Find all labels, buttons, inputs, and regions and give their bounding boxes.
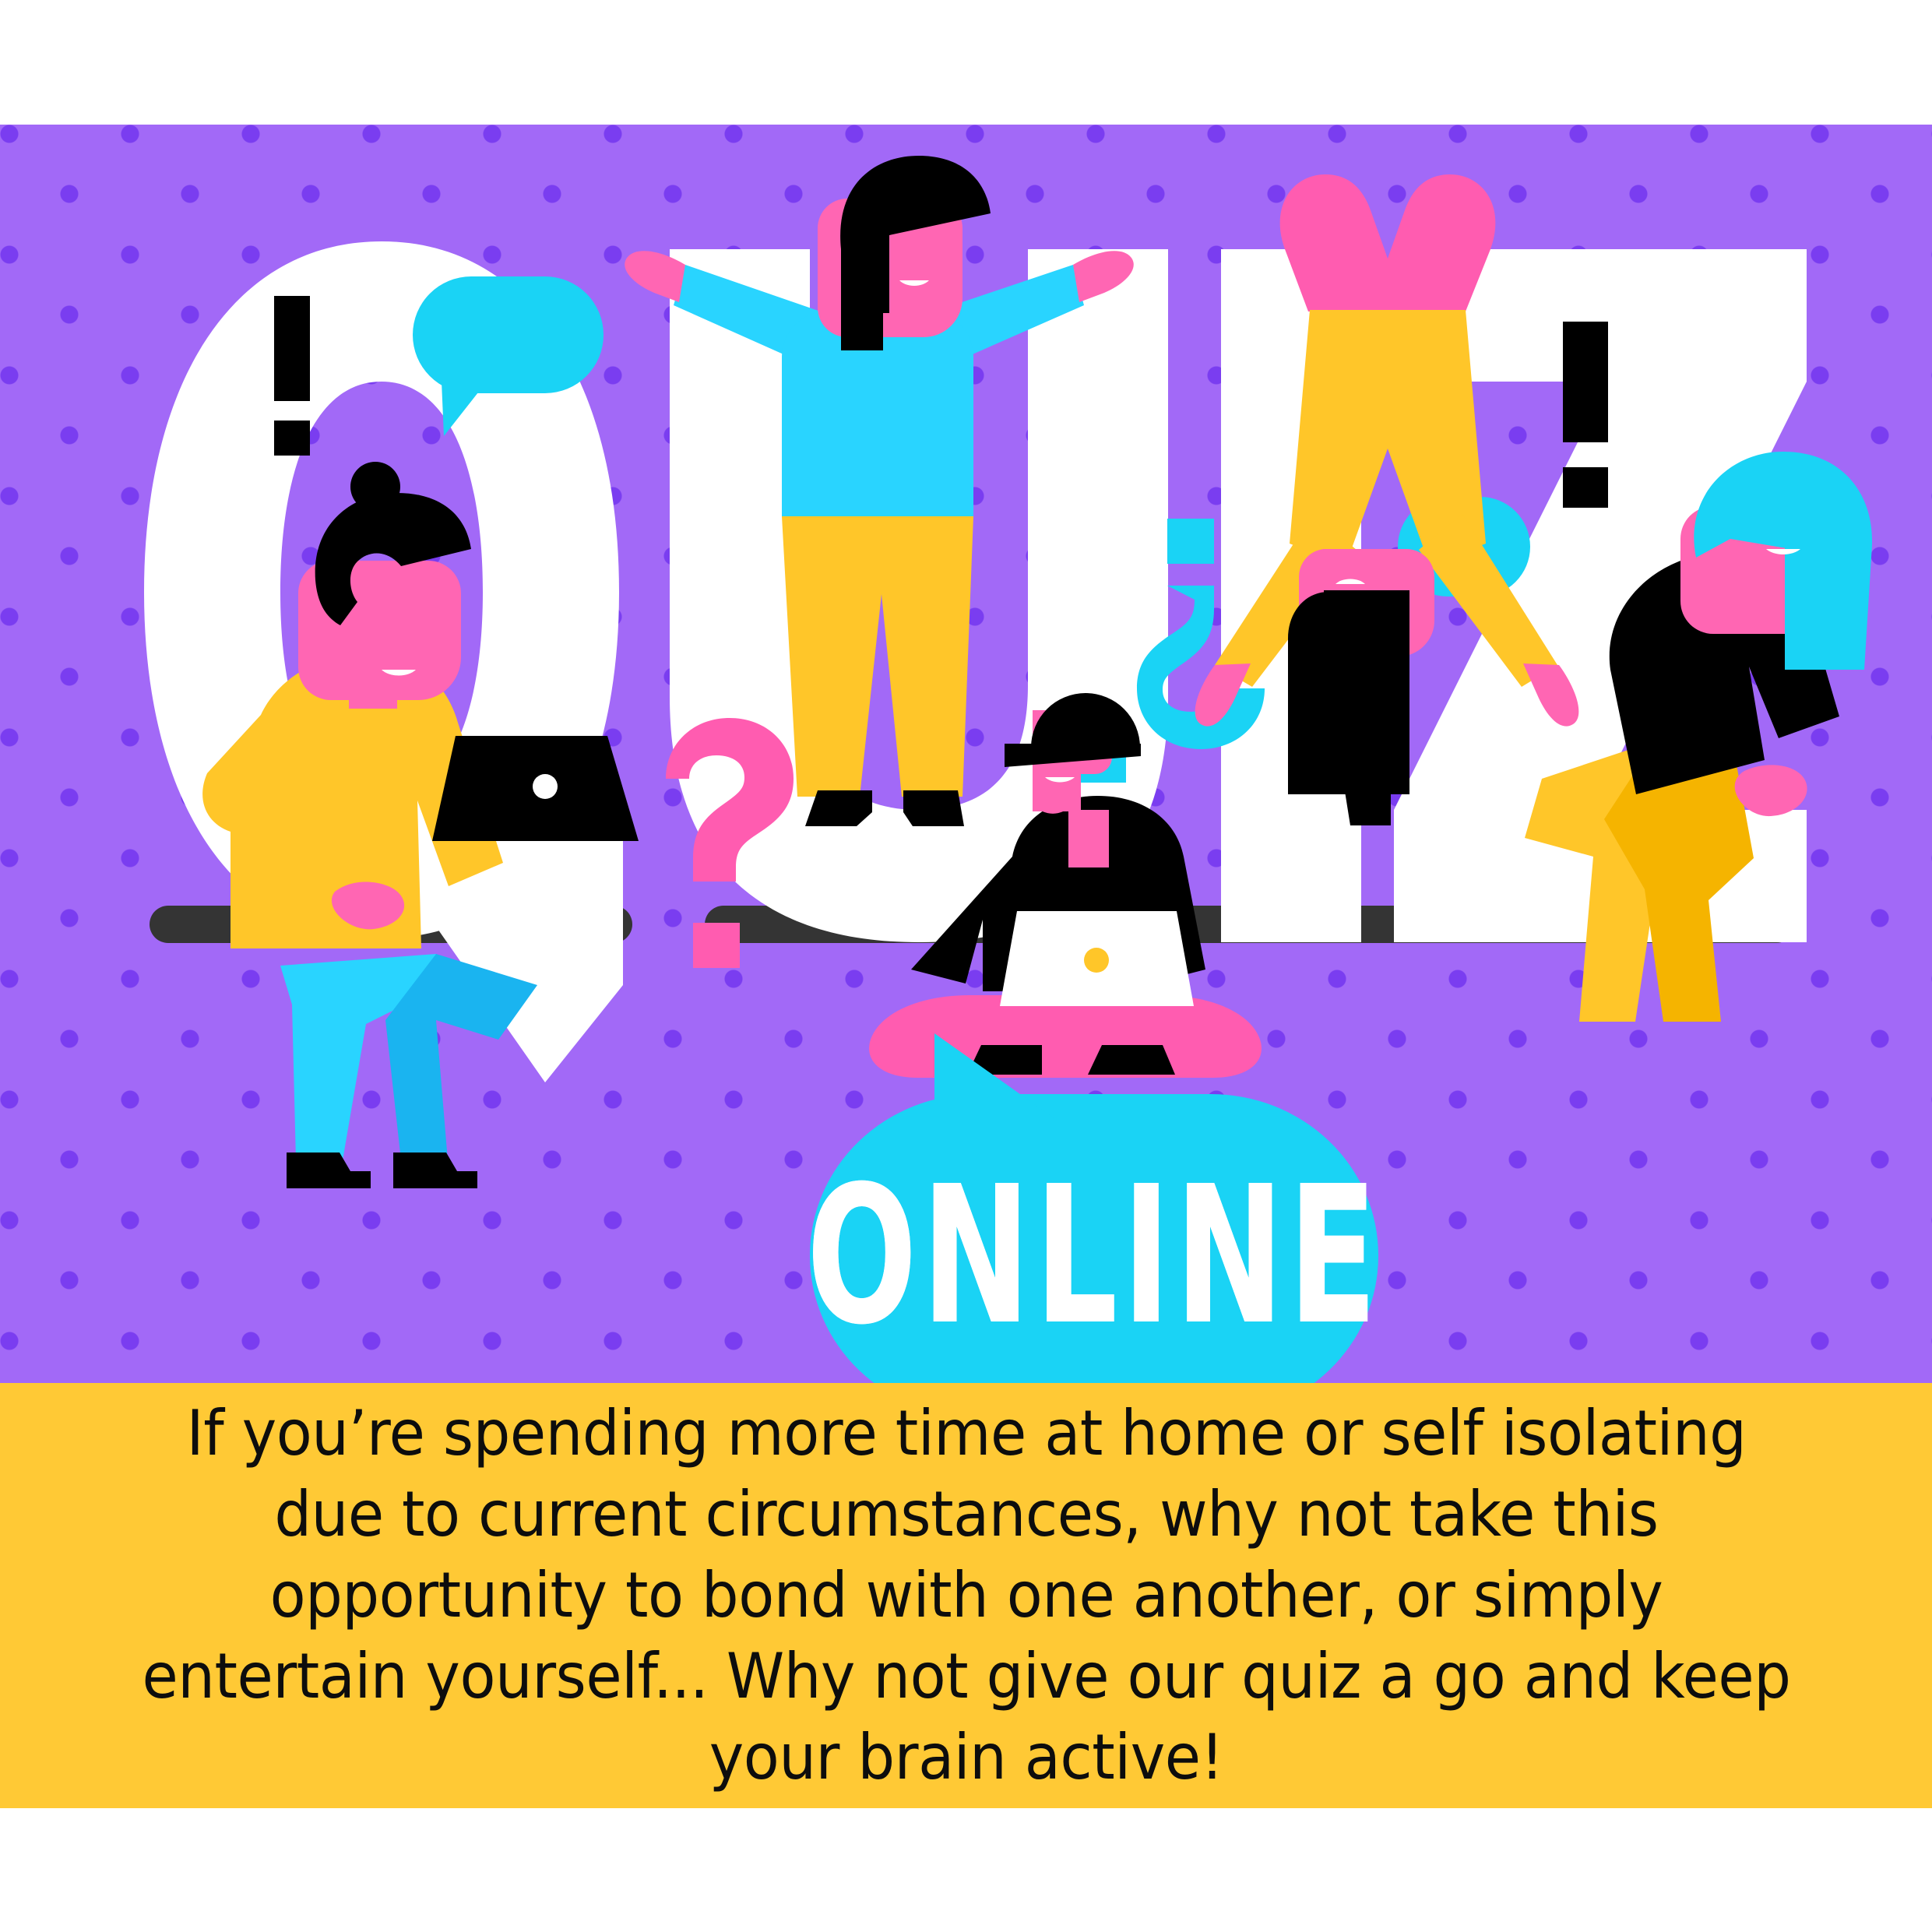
online-speech-bubble[interactable]: ONLINE	[810, 1094, 1378, 1383]
hero-panel: ONLINE	[0, 125, 1932, 1383]
online-label: ONLINE	[818, 1026, 1370, 1383]
person-cyan-hair-pointing-up	[1525, 452, 1872, 1022]
person-upside-down-hanging-on-z	[1195, 174, 1579, 825]
woman-with-laptop-sitting-on-q	[202, 462, 639, 1188]
speech-bubble-cyan-small	[413, 276, 604, 436]
question-mark-pink	[666, 718, 794, 968]
exclamation-mark-black-right	[1563, 322, 1608, 508]
caption-band: If you’re spending more time at home or …	[0, 1383, 1932, 1808]
poster-canvas: ONLINE If you’re spending more time at h…	[0, 0, 1932, 1932]
exclamation-mark-black-left	[274, 296, 310, 456]
caption-text: If you’re spending more time at home or …	[128, 1393, 1804, 1798]
